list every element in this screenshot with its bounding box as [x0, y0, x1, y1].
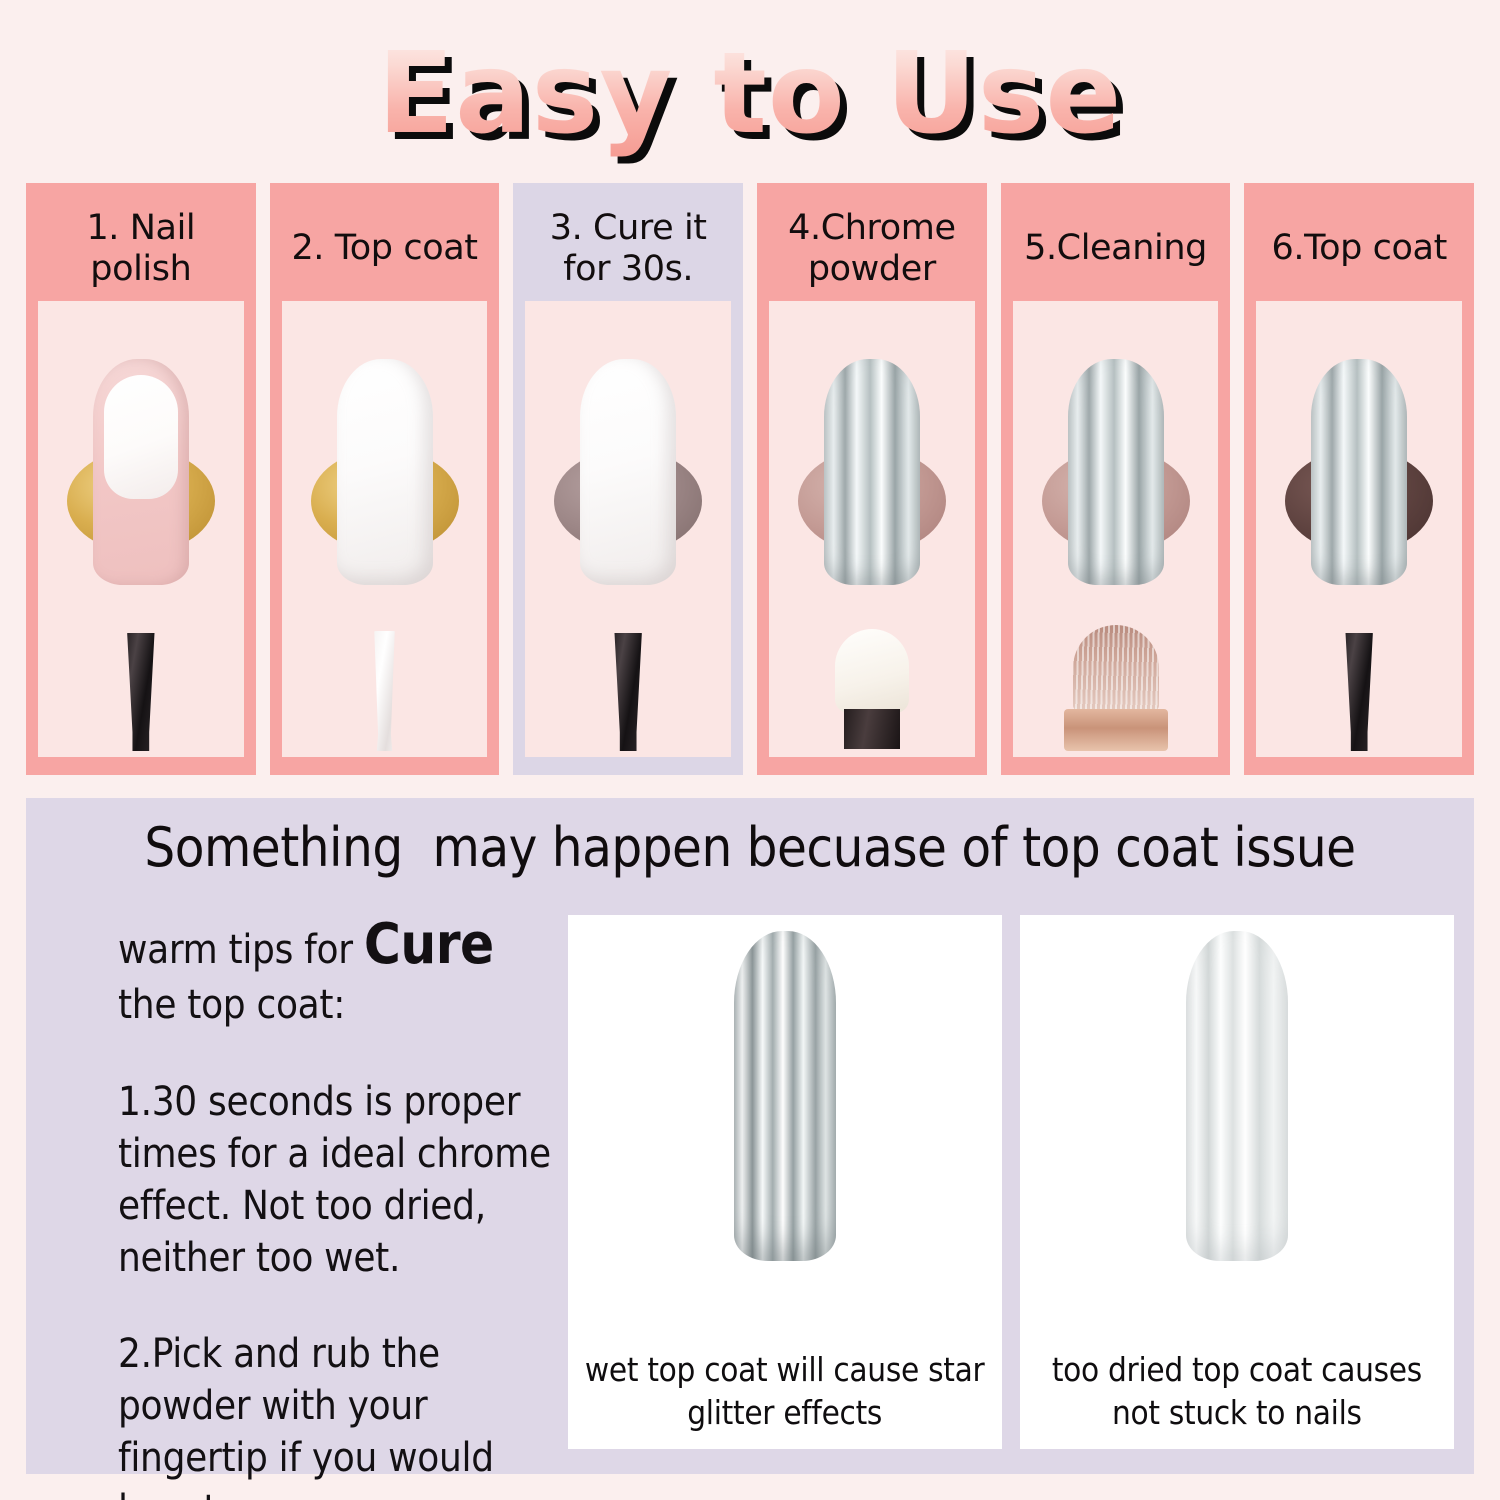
nail-tip-chrome	[1068, 359, 1164, 585]
example-box-wet-top-coat: wet top coat will cause star glitter eff…	[568, 915, 1002, 1449]
step-photo-3	[525, 301, 731, 757]
examples-column: wet top coat will cause star glitter eff…	[568, 909, 1454, 1449]
step-photo-2	[282, 301, 488, 757]
tip-item-1: 1.30 seconds is proper times for a ideal…	[118, 1076, 554, 1284]
brush-bristles	[1073, 625, 1159, 711]
example-caption-2: too dried top coat causes not stuck to n…	[1030, 1333, 1444, 1435]
nail-tip-white-cured	[580, 359, 676, 585]
step-card-5: 5.Cleaning	[1001, 183, 1231, 775]
brush-ferrule	[1064, 709, 1168, 751]
step-label-1: 1. Nail polish	[38, 197, 244, 301]
velvet-tip	[835, 629, 909, 713]
step-label-4: 4.Chrome powder	[769, 197, 975, 301]
tips-column: warm tips for Cure the top coat: 1.30 se…	[46, 909, 568, 1449]
step-card-1: 1. Nail polish	[26, 183, 256, 775]
step-photo-4	[769, 301, 975, 757]
panel-heading: Something may happen becuase of top coat…	[46, 820, 1454, 877]
step-photo-6	[1256, 301, 1462, 757]
tips-lead-after: the top coat:	[118, 982, 345, 1028]
velvet-applicator-icon	[835, 629, 909, 751]
example-caption-1: wet top coat will cause star glitter eff…	[578, 1333, 992, 1435]
fan-brush-icon	[1064, 625, 1168, 751]
nail-tip-mirror-chrome-example	[734, 931, 836, 1261]
step-photo-5	[1013, 301, 1219, 757]
tips-lead-before: warm tips for	[118, 927, 364, 973]
tips-lead-emphasis: Cure	[364, 912, 494, 977]
tips-lead: warm tips for Cure the top coat:	[118, 909, 554, 1032]
step-label-6: 6.Top coat	[1269, 197, 1448, 301]
step-label-3: 3. Cure it for 30s.	[525, 197, 731, 301]
bottle-cap-icon	[1340, 633, 1378, 751]
nail-tip-chrome	[824, 359, 920, 585]
velvet-handle	[844, 709, 900, 749]
panel-body: warm tips for Cure the top coat: 1.30 se…	[46, 909, 1454, 1449]
step-label-2: 2. Top coat	[289, 197, 479, 301]
bottle-cap-icon	[122, 633, 160, 751]
example-box-dried-top-coat: too dried top coat causes not stuck to n…	[1020, 915, 1454, 1449]
troubleshooting-panel: Something may happen becuase of top coat…	[26, 798, 1474, 1474]
step-card-6: 6.Top coat	[1244, 183, 1474, 775]
page-title-text: Easy to Use	[378, 29, 1123, 159]
page-title: Easy to Use Easy to Use	[378, 38, 1123, 150]
white-polish-blob	[104, 375, 178, 499]
nail-tip-white	[337, 359, 433, 585]
bottle-cap-icon	[609, 633, 647, 751]
page-title-banner: Easy to Use Easy to Use	[0, 26, 1500, 161]
step-label-5: 5.Cleaning	[1022, 197, 1209, 301]
step-photo-1	[38, 301, 244, 757]
tip-item-2: 2.Pick and rub the powder with your fing…	[118, 1328, 554, 1500]
steps-strip: 1. Nail polish 2. Top coat 3. Cure it fo…	[26, 183, 1474, 775]
step-card-3: 3. Cure it for 30s.	[513, 183, 743, 775]
step-card-4: 4.Chrome powder	[757, 183, 987, 775]
step-card-2: 2. Top coat	[270, 183, 500, 775]
nail-tip-mirror-chrome	[1311, 359, 1407, 585]
nail-tip-pearl-example	[1186, 931, 1288, 1261]
top-coat-brush-icon	[369, 631, 401, 751]
